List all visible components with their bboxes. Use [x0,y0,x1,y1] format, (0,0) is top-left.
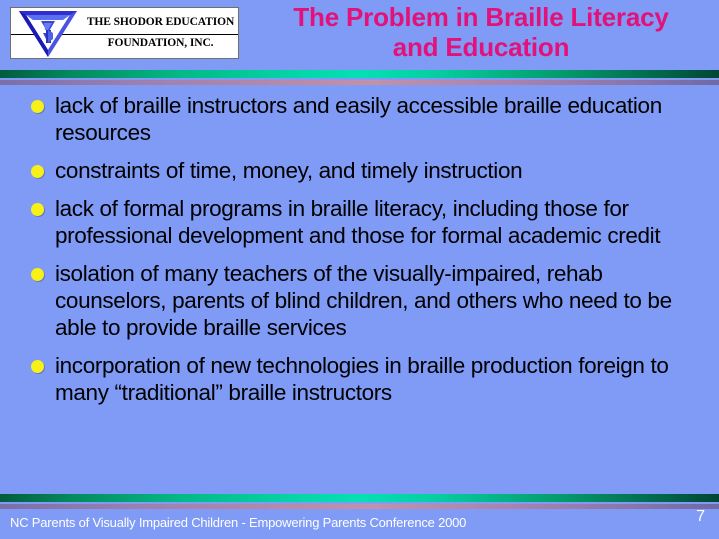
bullet-dot-icon [31,165,44,178]
list-item: constraints of time, money, and timely i… [0,157,719,184]
slide-body: lack of braille instructors and easily a… [0,92,719,490]
logo-text-line-1: THE SHODOR EDUCATION [83,16,238,28]
logo-text-line-2: FOUNDATION, INC. [83,37,238,49]
list-item-text: incorporation of new technologies in bra… [55,352,701,406]
shodor-triangle-logo-icon [17,9,79,59]
slide-title: The Problem in Braille Literacy and Educ… [249,2,713,62]
footer-purple-divider-bar [0,504,719,509]
list-item: isolation of many teachers of the visual… [0,260,719,341]
list-item: incorporation of new technologies in bra… [0,352,719,406]
slide-title-line-1: The Problem in Braille Literacy [249,2,713,32]
list-item-text: isolation of many teachers of the visual… [55,260,701,341]
list-item-text: constraints of time, money, and timely i… [55,157,701,184]
header-teal-divider-bar [0,70,719,78]
slide: THE SHODOR EDUCATION FOUNDATION, INC. Th… [0,0,719,539]
bullet-dot-icon [31,203,44,216]
shodor-logo-text: THE SHODOR EDUCATION FOUNDATION, INC. [83,8,238,58]
page-number: 7 [696,508,705,526]
slide-header: THE SHODOR EDUCATION FOUNDATION, INC. Th… [0,0,719,70]
bullet-dot-icon [31,100,44,113]
bullet-dot-icon [31,268,44,281]
bullet-list: lack of braille instructors and easily a… [0,92,719,406]
list-item: lack of formal programs in braille liter… [0,195,719,249]
header-purple-divider-bar [0,80,719,85]
list-item-text: lack of formal programs in braille liter… [55,195,701,249]
bullet-dot-icon [31,360,44,373]
list-item-text: lack of braille instructors and easily a… [55,92,701,146]
slide-title-line-2: and Education [249,32,713,62]
footer-teal-divider-bar [0,494,719,502]
footer-conference-text: NC Parents of Visually Impaired Children… [10,515,466,530]
list-item: lack of braille instructors and easily a… [0,92,719,146]
shodor-logo-box: THE SHODOR EDUCATION FOUNDATION, INC. [10,7,239,59]
